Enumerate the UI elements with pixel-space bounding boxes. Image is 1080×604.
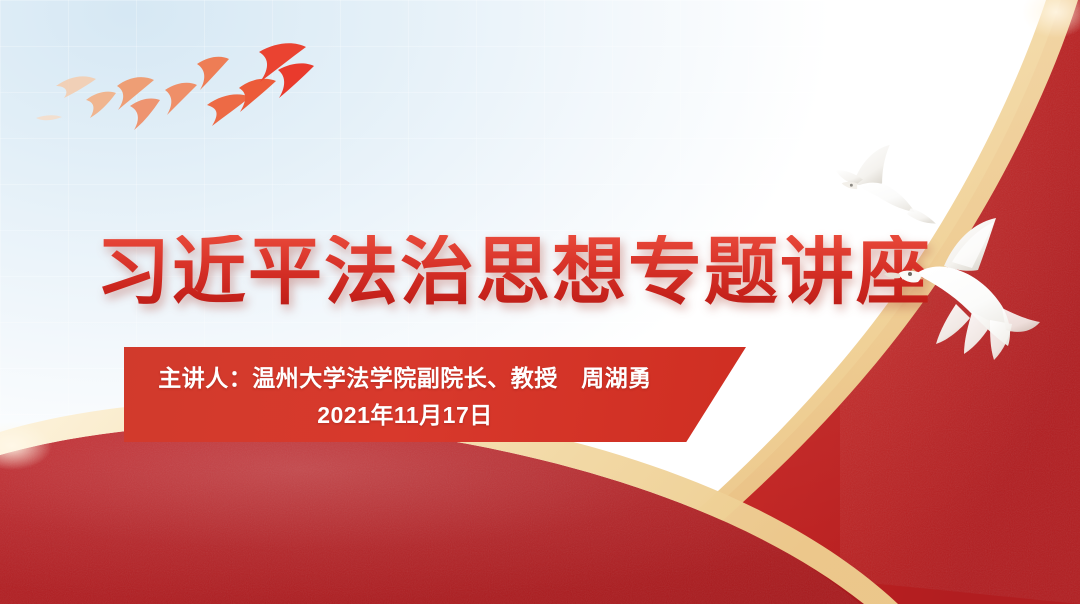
presentation-title-slide: 习近平法治思想专题讲座 主讲人：温州大学法学院副院长、教授 周湖勇 2021年1… <box>0 0 1080 604</box>
date-line: 2021年11月17日 <box>317 396 493 430</box>
slide-title-container: 习近平法治思想专题讲座 <box>96 224 926 320</box>
page-title: 习近平法治思想专题讲座 <box>96 235 932 309</box>
speaker-banner: 主讲人：温州大学法学院副院长、教授 周湖勇 2021年11月17日 <box>124 347 746 442</box>
speaker-line: 主讲人：温州大学法学院副院长、教授 周湖勇 <box>158 359 652 393</box>
